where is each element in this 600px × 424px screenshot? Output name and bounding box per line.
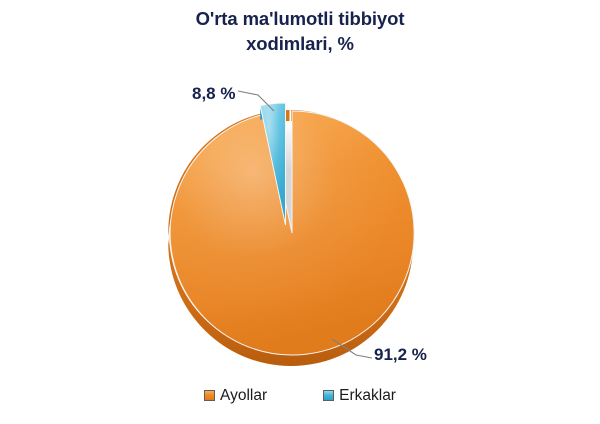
pie-plot-area (0, 55, 600, 370)
legend-swatch-cyan-icon (323, 390, 334, 401)
pie-chart-graphic (0, 55, 600, 370)
page-title: O'rta ma'lumotli tibbiyot xodimlari, % (0, 6, 600, 56)
chart-canvas: O'rta ma'lumotli tibbiyot xodimlari, % (0, 0, 600, 424)
data-label-ayollar: 91,2 % (374, 345, 427, 365)
legend-item-label: Erkaklar (339, 388, 396, 404)
legend-item-ayollar[interactable]: Ayollar (204, 388, 267, 404)
legend-swatch-orange-icon (204, 390, 215, 401)
legend-item-erkaklar[interactable]: Erkaklar (323, 388, 396, 404)
data-label-erkaklar: 8,8 % (192, 84, 235, 104)
legend-item-label: Ayollar (220, 388, 267, 404)
legend: Ayollar Erkaklar (0, 388, 600, 404)
pie-slice-ayollar-gloss (170, 111, 414, 355)
